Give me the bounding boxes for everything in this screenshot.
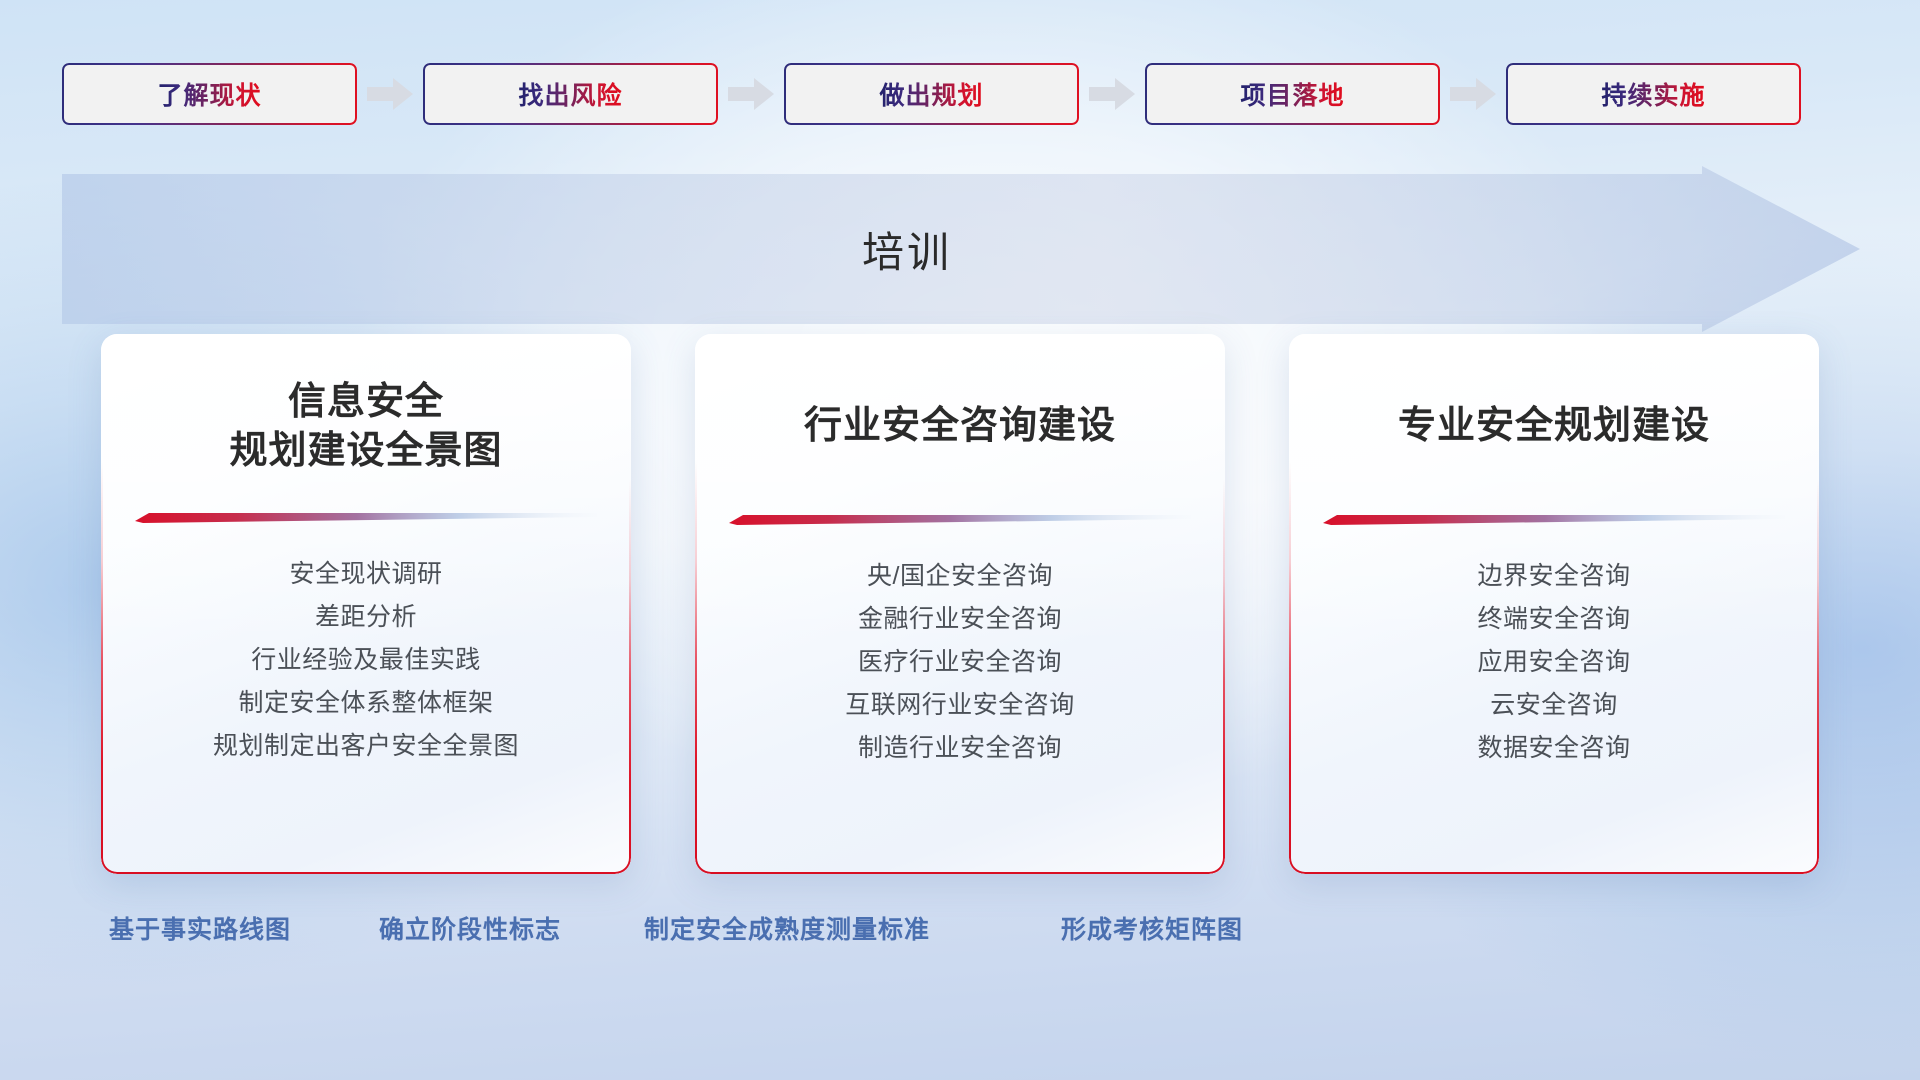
- training-banner: 培训: [62, 166, 1860, 332]
- service-card-title-line: 专业安全规划建设: [1398, 402, 1710, 451]
- outcome-label: 制定安全成熟度测量标准: [644, 910, 930, 946]
- list-item: 行业经验及最佳实践: [135, 639, 597, 682]
- process-step-label: 找出风险: [518, 76, 622, 112]
- process-arrow-icon: [718, 74, 784, 114]
- list-item: 金融行业安全咨询: [729, 598, 1191, 641]
- list-item: 互联网行业安全咨询: [729, 684, 1191, 727]
- outcome-label: 基于事实路线图: [109, 910, 291, 946]
- card-divider: [135, 511, 597, 523]
- process-arrow-icon: [357, 74, 423, 114]
- card-divider: [1323, 513, 1785, 525]
- service-card-title-line: 规划建设全景图: [229, 427, 502, 476]
- list-item: 央/国企安全咨询: [729, 555, 1191, 598]
- list-item: 医疗行业安全咨询: [729, 641, 1191, 684]
- list-item: 差距分析: [135, 596, 597, 639]
- outcome-label-row: 基于事实路线图 确立阶段性标志 制定安全成熟度测量标准 形成考核矩阵图: [0, 910, 1920, 960]
- process-step-label: 做出规划: [879, 76, 983, 112]
- process-arrow-icon: [1440, 74, 1506, 114]
- process-step-5[interactable]: 持续实施: [1506, 63, 1801, 125]
- process-step-3[interactable]: 做出规划: [784, 63, 1079, 125]
- list-item: 规划制定出客户安全全景图: [135, 725, 597, 768]
- service-card-3[interactable]: 专业安全规划建设: [1289, 334, 1819, 874]
- service-card-title-line: 行业安全咨询建设: [804, 402, 1116, 451]
- process-step-row: 了解现状 找出风险 做出规划 项目落地: [62, 62, 1862, 126]
- training-banner-label: 培训: [62, 166, 1752, 332]
- outcome-label: 形成考核矩阵图: [1061, 910, 1243, 946]
- service-card-title: 信息安全 规划建设全景图: [229, 378, 502, 477]
- process-step-1[interactable]: 了解现状: [62, 63, 357, 125]
- service-card-group: 信息安全 规划建设全景图: [0, 334, 1920, 874]
- service-card-title: 行业安全咨询建设: [804, 402, 1116, 451]
- process-step-2[interactable]: 找出风险: [423, 63, 718, 125]
- process-step-label: 项目落地: [1240, 76, 1344, 112]
- list-item: 边界安全咨询: [1323, 555, 1785, 598]
- list-item: 云安全咨询: [1323, 684, 1785, 727]
- service-card-2[interactable]: 行业安全咨询建设: [695, 334, 1225, 874]
- service-card-list: 边界安全咨询 终端安全咨询 应用安全咨询 云安全咨询 数据安全咨询: [1323, 555, 1785, 770]
- list-item: 终端安全咨询: [1323, 598, 1785, 641]
- service-card-1[interactable]: 信息安全 规划建设全景图: [101, 334, 631, 874]
- process-step-label: 持续实施: [1601, 76, 1705, 112]
- slide-canvas: 了解现状 找出风险 做出规划 项目落地: [0, 0, 1920, 1080]
- list-item: 安全现状调研: [135, 553, 597, 596]
- process-arrow-icon: [1079, 74, 1145, 114]
- card-divider: [729, 513, 1191, 525]
- list-item: 数据安全咨询: [1323, 727, 1785, 770]
- service-card-list: 安全现状调研 差距分析 行业经验及最佳实践 制定安全体系整体框架 规划制定出客户…: [135, 553, 597, 768]
- service-card-title-line: 信息安全: [229, 378, 502, 427]
- process-step-4[interactable]: 项目落地: [1145, 63, 1440, 125]
- list-item: 制造行业安全咨询: [729, 727, 1191, 770]
- service-card-list: 央/国企安全咨询 金融行业安全咨询 医疗行业安全咨询 互联网行业安全咨询 制造行…: [729, 555, 1191, 770]
- service-card-title: 专业安全规划建设: [1398, 402, 1710, 451]
- outcome-label: 确立阶段性标志: [379, 910, 561, 946]
- list-item: 应用安全咨询: [1323, 641, 1785, 684]
- list-item: 制定安全体系整体框架: [135, 682, 597, 725]
- process-step-label: 了解现状: [157, 76, 261, 112]
